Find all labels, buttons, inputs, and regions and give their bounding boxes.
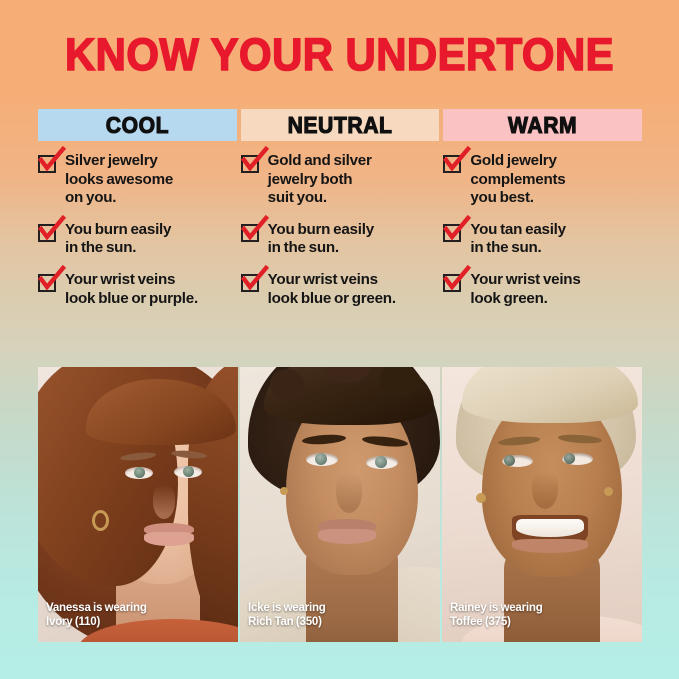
checkbox-wrap[interactable] xyxy=(241,224,259,242)
checklist-item-text: Your wrist veins look blue or purple. xyxy=(65,271,198,308)
checklist-item[interactable]: Gold and silver jewelry both suit you. xyxy=(241,152,440,208)
line: suit you. xyxy=(268,189,327,206)
checklist-item-text: Gold jewelry complements you best. xyxy=(470,152,565,208)
checkmark-icon xyxy=(444,267,470,291)
iris-left xyxy=(504,455,515,466)
line: you best. xyxy=(470,189,533,206)
earring-icon xyxy=(604,487,613,496)
caption-line-1: Vanessa is wearing xyxy=(46,602,147,614)
line: Your wrist veins xyxy=(470,271,580,288)
model-photo-neutral[interactable]: Icke is wearing Rich Tan (350) xyxy=(240,367,440,642)
hair-curl xyxy=(270,369,304,399)
column-header-warm: WARM xyxy=(443,109,642,141)
checkmark-icon xyxy=(39,148,65,172)
checkbox-wrap[interactable] xyxy=(443,274,461,292)
column-header-cool: COOL xyxy=(38,109,237,141)
checklist-item-text: Silver jewelry looks awesome on you. xyxy=(65,152,173,208)
caption-line-1: Rainey is wearing xyxy=(450,602,543,614)
checklist-item[interactable]: Gold jewelry complements you best. xyxy=(443,152,642,208)
checklist-item-text: You burn easily in the sun. xyxy=(268,221,374,258)
checkmark-icon xyxy=(444,217,470,241)
caption-line-2: Rich Tan (350) xyxy=(248,616,434,629)
line: look blue or green. xyxy=(268,290,396,307)
page-title: KNOW YOUR UNDERTONE xyxy=(24,31,655,79)
checklist-column-neutral: Gold and silver jewelry both suit you. Y… xyxy=(241,152,440,352)
line: look green. xyxy=(470,290,547,307)
checklist-item-text: Gold and silver jewelry both suit you. xyxy=(268,152,372,208)
line: in the sun. xyxy=(268,239,339,256)
checkmark-icon xyxy=(242,217,268,241)
checkbox-wrap[interactable] xyxy=(443,155,461,173)
iris-right xyxy=(564,453,575,464)
caption-line-2: Toffee (375) xyxy=(450,616,636,629)
model-photos-row: Vanessa is wearing Ivory (110) xyxy=(38,367,642,642)
caption-line-1: Icke is wearing xyxy=(248,602,326,614)
checkbox-wrap[interactable] xyxy=(443,224,461,242)
nose xyxy=(532,471,558,509)
column-header-neutral: NEUTRAL xyxy=(241,109,440,141)
line: Gold jewelry xyxy=(470,152,556,169)
checklist-item-text: You tan easily in the sun. xyxy=(470,221,566,258)
line: Silver jewelry xyxy=(65,152,158,169)
checkbox-wrap[interactable] xyxy=(38,274,56,292)
checkbox-wrap[interactable] xyxy=(241,155,259,173)
column-headers: COOL NEUTRAL WARM xyxy=(38,109,642,141)
checklist-item-text: You burn easily in the sun. xyxy=(65,221,171,258)
hair-fringe xyxy=(462,367,638,423)
iris-left xyxy=(315,453,327,465)
iris-left xyxy=(134,467,145,478)
earring-icon xyxy=(280,487,288,495)
checklist-item[interactable]: You burn easily in the sun. xyxy=(38,221,237,258)
checkmark-icon xyxy=(39,267,65,291)
iris-right xyxy=(183,466,194,477)
lip-lower xyxy=(144,532,194,546)
earring-icon xyxy=(476,493,486,503)
checklist-item[interactable]: Your wrist veins look green. xyxy=(443,271,642,308)
column-header-neutral-label: NEUTRAL xyxy=(288,112,393,139)
line: You burn easily xyxy=(268,221,374,238)
checklist-item-text: Your wrist veins look green. xyxy=(470,271,580,308)
checklist-column-cool: Silver jewelry looks awesome on you. You… xyxy=(38,152,237,352)
checkmark-icon xyxy=(39,217,65,241)
model-photo-warm[interactable]: Rainey is wearing Toffee (375) xyxy=(442,367,642,642)
checklist-item[interactable]: Silver jewelry looks awesome on you. xyxy=(38,152,237,208)
photo-caption-cool: Vanessa is wearing Ivory (110) xyxy=(46,602,232,629)
line: complements xyxy=(470,171,565,188)
line: Your wrist veins xyxy=(65,271,175,288)
line: in the sun. xyxy=(470,239,541,256)
checkmark-icon xyxy=(444,148,470,172)
model-photo-cool[interactable]: Vanessa is wearing Ivory (110) xyxy=(38,367,238,642)
lip-lower xyxy=(318,529,376,544)
checklist-item[interactable]: You tan easily in the sun. xyxy=(443,221,642,258)
line: You burn easily xyxy=(65,221,171,238)
checklist-item[interactable]: Your wrist veins look blue or green. xyxy=(241,271,440,308)
iris-right xyxy=(375,456,387,468)
photo-caption-neutral: Icke is wearing Rich Tan (350) xyxy=(248,602,434,629)
photo-caption-warm: Rainey is wearing Toffee (375) xyxy=(450,602,636,629)
line: look blue or purple. xyxy=(65,290,198,307)
line: jewelry both xyxy=(268,171,353,188)
line: in the sun. xyxy=(65,239,136,256)
checkbox-wrap[interactable] xyxy=(38,224,56,242)
checklist-item[interactable]: You burn easily in the sun. xyxy=(241,221,440,258)
line: Gold and silver xyxy=(268,152,372,169)
checkmark-icon xyxy=(242,267,268,291)
checkmark-icon xyxy=(242,148,268,172)
column-header-warm-label: WARM xyxy=(508,112,577,139)
checklist-item[interactable]: Your wrist veins look blue or purple. xyxy=(38,271,237,308)
earring-icon xyxy=(92,510,109,531)
nose xyxy=(153,485,175,519)
checklist-columns: Silver jewelry looks awesome on you. You… xyxy=(38,152,642,352)
teeth xyxy=(516,519,584,537)
line: You tan easily xyxy=(470,221,566,238)
line: on you. xyxy=(65,189,116,206)
checkbox-wrap[interactable] xyxy=(38,155,56,173)
lip-lower xyxy=(512,539,588,553)
checklist-item-text: Your wrist veins look blue or green. xyxy=(268,271,396,308)
nose xyxy=(336,473,362,513)
column-header-cool-label: COOL xyxy=(106,112,169,139)
caption-line-2: Ivory (110) xyxy=(46,616,232,629)
checklist-column-warm: Gold jewelry complements you best. You t… xyxy=(443,152,642,352)
line: Your wrist veins xyxy=(268,271,378,288)
line: looks awesome xyxy=(65,171,173,188)
undertone-poster: KNOW YOUR UNDERTONE COOL NEUTRAL WARM xyxy=(0,0,679,679)
checkbox-wrap[interactable] xyxy=(241,274,259,292)
